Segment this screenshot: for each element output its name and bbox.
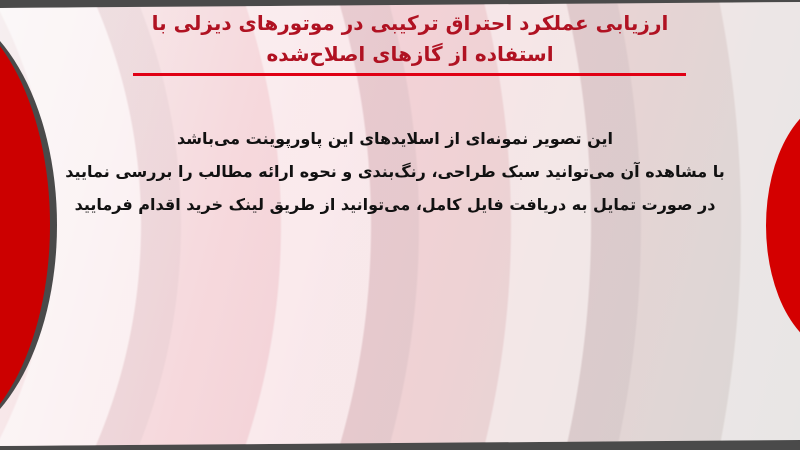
slide-body-line-2: با مشاهده آن می‌توانید سبک طراحی، رنگ‌بن… [60, 155, 730, 188]
title-underline-rule [133, 73, 686, 76]
slide-title-line-1: ارزیابی عملکرد احتراق ترکیبی در موتورهای… [100, 8, 720, 39]
slide-body-line-3: در صورت تمایل به دریافت فایل کامل، می‌تو… [60, 188, 730, 221]
presentation-slide: ارزیابی عملکرد احتراق ترکیبی در موتورهای… [0, 0, 800, 450]
slide-title: ارزیابی عملکرد احتراق ترکیبی در موتورهای… [100, 8, 720, 70]
slide-title-line-2: استفاده از گازهای اصلاح‌شده [100, 39, 720, 70]
slide-body-text: این تصویر نمونه‌ای از اسلایدهای این پاور… [60, 122, 730, 221]
slide-body-line-1: این تصویر نمونه‌ای از اسلایدهای این پاور… [60, 122, 730, 155]
